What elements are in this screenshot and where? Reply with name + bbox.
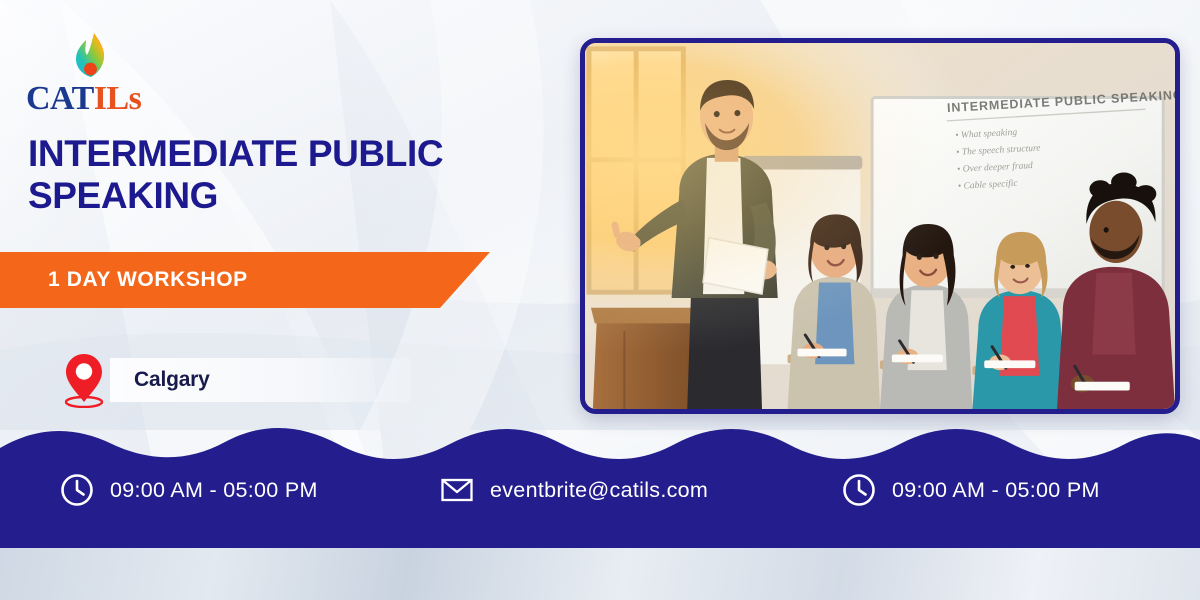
duration-badge-label: 1 DAY WORKSHOP bbox=[48, 252, 248, 308]
flame-icon bbox=[68, 32, 114, 84]
whiteboard-bullet-list: What speaking The speech structure Over … bbox=[955, 127, 1043, 199]
event-title: INTERMEDIATE PUBLIC SPEAKING bbox=[28, 133, 528, 217]
brand-logo[interactable]: CATILs bbox=[26, 32, 176, 120]
duration-badge: 1 DAY WORKSHOP bbox=[0, 252, 490, 308]
footer-time-left-label: 09:00 AM - 05:00 PM bbox=[110, 478, 318, 503]
logo-text-primary: CAT bbox=[26, 80, 94, 117]
event-title-line-2: SPEAKING bbox=[28, 175, 528, 217]
event-photo: INTERMEDIATE PUBLIC SPEAKING What speaki… bbox=[580, 38, 1180, 414]
footer-info-row: 09:00 AM - 05:00 PM eventbrite@catils.co… bbox=[0, 455, 1200, 525]
clock-icon bbox=[60, 473, 94, 507]
whiteboard-bullet: The speech structure bbox=[956, 144, 1041, 158]
bottom-accent-strip bbox=[0, 545, 1200, 600]
footer-email-label[interactable]: eventbrite@catils.com bbox=[490, 478, 708, 503]
logo-text-accent: ILs bbox=[94, 80, 142, 117]
event-banner: CATILs INTERMEDIATE PUBLIC SPEAKING 1 DA… bbox=[0, 0, 1200, 600]
footer-item-time-right: 09:00 AM - 05:00 PM bbox=[842, 473, 1100, 507]
location-label: Calgary bbox=[134, 358, 210, 402]
footer-item-time-left: 09:00 AM - 05:00 PM bbox=[60, 473, 318, 507]
footer-item-email[interactable]: eventbrite@catils.com bbox=[440, 473, 708, 507]
footer-time-right-label: 09:00 AM - 05:00 PM bbox=[892, 478, 1100, 503]
logo-wordmark: CATILs bbox=[26, 80, 176, 118]
whiteboard-bullet: Over deeper fraud bbox=[957, 161, 1042, 175]
envelope-icon bbox=[440, 473, 474, 507]
clock-icon bbox=[842, 473, 876, 507]
whiteboard-bullet: Cable specific bbox=[958, 178, 1043, 192]
event-title-line-1: INTERMEDIATE PUBLIC bbox=[28, 133, 528, 175]
map-pin-icon bbox=[62, 352, 106, 408]
